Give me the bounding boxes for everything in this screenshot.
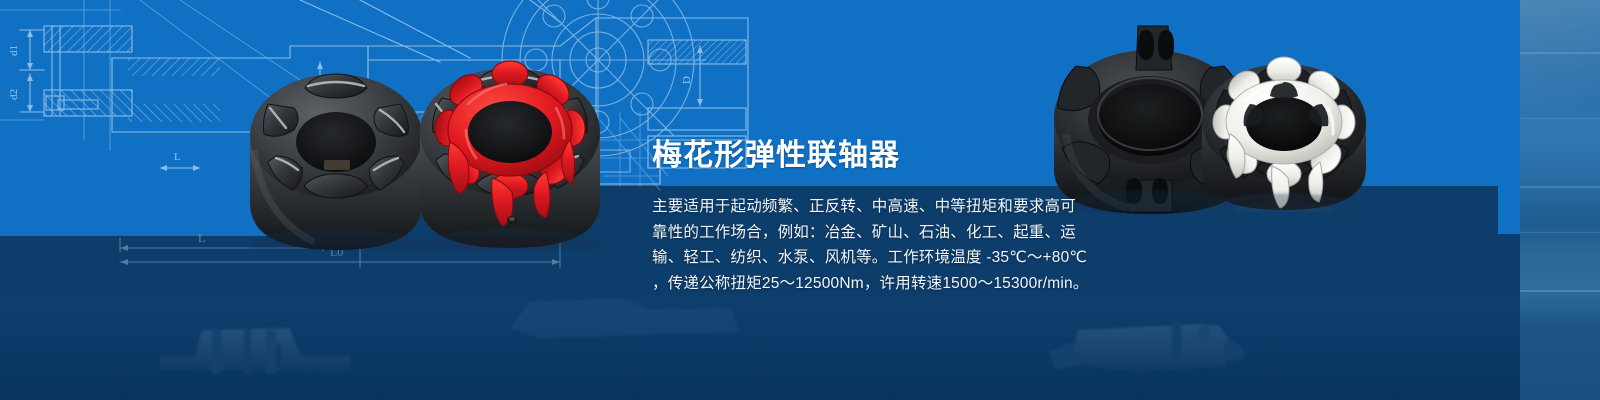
product-description: 主要适用于起动频繁、正反转、中高速、中等扭矩和要求高可 靠性的工作场合，例如：冶…	[652, 194, 1072, 296]
product-banner: d1 d2	[0, 0, 1600, 400]
svg-text:d1: d1	[8, 45, 20, 56]
background-photo-strip-right	[1520, 0, 1600, 400]
description-line-3: 输、轻工、纺织、水泵、风机等。工作环境温度 -35℃～+80℃	[652, 245, 1072, 271]
product-reflection-left	[228, 200, 628, 250]
svg-text:L: L	[174, 151, 181, 163]
page-title: 梅花形弹性联轴器	[652, 138, 900, 174]
description-line-2: 靠性的工作场合，例如：冶金、矿山、石油、化工、起重、运	[652, 220, 1072, 246]
blueprint-left-section: d1 d2	[8, 26, 132, 116]
svg-text:d2: d2	[8, 89, 20, 100]
background-machinery-silhouette-left	[140, 300, 450, 400]
background-machinery-silhouette-center	[500, 288, 760, 348]
description-line-4: ，传递公称扭矩25～12500Nm，许用转速1500～15300r/min。	[652, 271, 1072, 297]
svg-text:L: L	[198, 231, 205, 245]
background-machinery-silhouette-right	[1020, 296, 1320, 396]
description-line-1: 主要适用于起动频繁、正反转、中高速、中等扭矩和要求高可	[652, 194, 1072, 220]
